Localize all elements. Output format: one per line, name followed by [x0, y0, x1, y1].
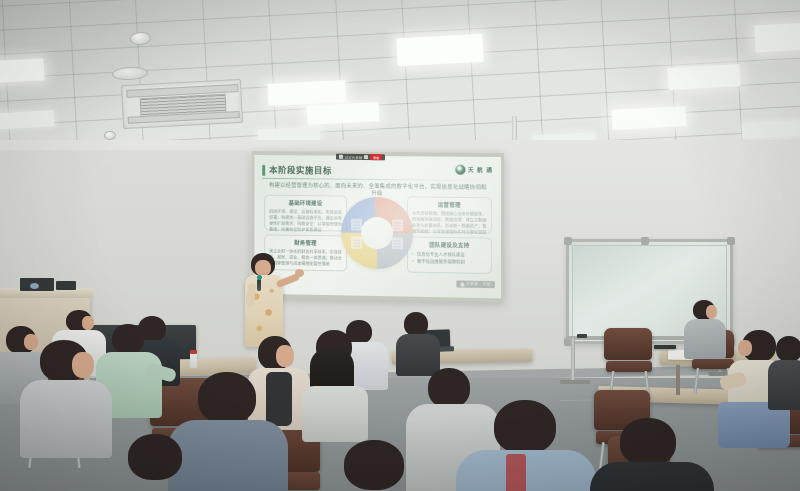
quadrant-bullet: 数字化运维服务保障机制 [412, 258, 487, 267]
quadrant-infrastructure: 基础环境建设 机房环境：建设、运维标准化，实现云化部署；构建统一基础设施平台，满… [264, 195, 347, 232]
toolbar-label: 幻灯片放映 [345, 154, 362, 159]
toolbar-square-icon[interactable] [364, 155, 368, 159]
quadrant-finance: 财务管理 建立业财一体化的财务共享体系，实现核算、报账、资金、税务一体贯通；推动… [264, 234, 347, 271]
ceiling-panel-light [754, 23, 800, 53]
podium-equipment [56, 281, 76, 290]
donut-center [361, 217, 393, 249]
ceiling-panel-light [667, 64, 740, 90]
badge-dot-icon [460, 282, 464, 286]
ceiling-panel-light [307, 102, 380, 125]
logo-mark-icon [456, 165, 466, 175]
quadrant-heading: 财务管理 [269, 238, 342, 247]
microphone-head-icon [257, 275, 262, 280]
donut-chart [341, 197, 413, 270]
quadrant-body: 建立业财一体化的财务共享体系，实现核算、报账、资金、税务一体贯通；推动全面预算管… [269, 248, 342, 267]
slide-title: 本阶段实施目标 [269, 164, 332, 177]
whiteboard-marker[interactable] [577, 334, 587, 338]
classroom-scene: 本阶段实施目标 天 航 通 构建以经营管理为核心的、面向未来的、全面集成的数字化… [0, 0, 800, 491]
quadrant-body: 业务流程梳理：围绕核心业务价值链条，梳理端到端流程；数据治理：建立主数据标准与质… [412, 210, 487, 235]
slide-watermark-badge: 天航通 · 内部 [456, 280, 495, 288]
presentation-toolbar[interactable]: 幻灯片放映 录制 [336, 154, 385, 161]
microphone[interactable] [257, 279, 261, 291]
person-icon [392, 219, 403, 231]
ceiling-panel-light [396, 34, 483, 66]
whiteboard-leg [571, 338, 575, 382]
document-icon [392, 237, 403, 249]
title-accent-bar [262, 164, 265, 175]
org-chart-icon [351, 237, 362, 249]
presenter-hand [295, 269, 304, 277]
table-leg [676, 365, 680, 395]
company-logo: 天 航 通 [456, 165, 493, 175]
ceiling-ac-unit [121, 79, 243, 129]
record-button[interactable]: 录制 [370, 154, 381, 160]
badge-label: 天航通 · 内部 [466, 282, 491, 287]
logo-text: 天 航 通 [468, 166, 493, 174]
ceiling-panel-light [612, 106, 687, 130]
water-bottle [190, 352, 197, 368]
quadrant-body: 机房环境：建设、运维标准化，实现云化部署；构建统一基础设施平台，满足业务弹性扩展… [269, 209, 342, 234]
quadrant-team: 团队建设及支持 信息化专业人才梯队建设 数字化运维服务保障机制 [407, 236, 492, 274]
tablet-device[interactable] [654, 345, 676, 349]
quadrant-operations: 运营管理 业务流程梳理：围绕核心业务价值链条，梳理端到端流程；数据治理：建立主数… [407, 196, 492, 233]
title-underline [262, 178, 494, 181]
ceiling-panel-light [267, 80, 346, 106]
quadrant-heading: 运营管理 [412, 200, 487, 209]
clipboard-icon [351, 219, 362, 231]
ceiling-panel-light [0, 58, 45, 83]
ceiling-panel-light [742, 120, 800, 138]
quadrant-heading: 团队建设及支持 [412, 241, 487, 250]
slide-title-row: 本阶段实施目标 [262, 164, 332, 177]
toolbar-square-icon[interactable] [339, 155, 343, 159]
bottle-cap [190, 350, 197, 354]
podium-item [30, 283, 39, 289]
quadrant-heading: 基础环境建设 [269, 199, 342, 208]
whiteboard-foot [560, 380, 590, 384]
